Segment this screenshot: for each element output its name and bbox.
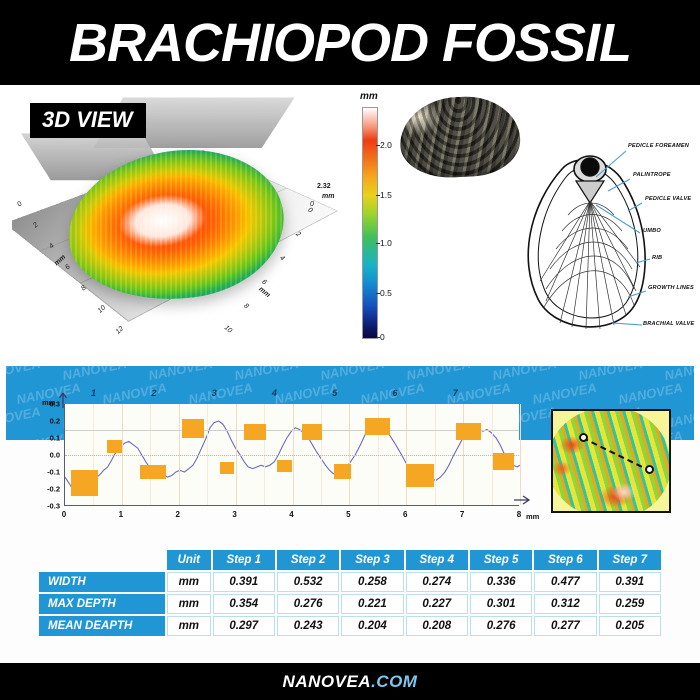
table-col-step-4: Step 4 [406,550,468,570]
measurements-table-element: UnitStep 1Step 2Step 3Step 4Step 5Step 6… [37,548,663,638]
chart-gridline [520,404,521,505]
step-marker-4: 4 [272,388,277,398]
step-region-box-10 [365,418,390,435]
step-region-box-12 [456,423,481,440]
step-region-box-4 [182,419,205,438]
table-cell-unit: mm [167,616,211,636]
axis-tick-left-12: 12 [115,325,125,335]
x-axis-arrow-icon [514,494,530,506]
step-region-box-5 [220,462,235,474]
profile-chart-section: mm 1234567 0.30.20.10.0-0.1-0.2-0.3 0123… [6,366,694,535]
table-cell-step-4: 0.274 [406,572,468,592]
y-tick--0.1: -0.1 [32,468,60,477]
table-col-step-5: Step 5 [470,550,532,570]
diagram-label-rib: RIB [652,255,662,261]
x-tick-8: 8 [517,510,521,519]
page-title: BRACHIOPOD FOSSIL [69,16,631,70]
table-cell-unit: mm [167,594,211,614]
axis-tick-left-0: 0 [16,201,24,209]
table-row-label: MAX DEPTH [39,594,165,614]
z-axis-max: 2.32 [317,183,331,190]
axis-tick-right-10: 10 [223,324,233,334]
table-body: WIDTHmm0.3910.5320.2580.2740.3360.4770.3… [39,572,661,636]
anatomy-diagram-svg [500,133,696,345]
colorbar-tick-1: 1.0 [380,238,392,248]
table-row-label: WIDTH [39,572,165,592]
table-cell-step-6: 0.312 [534,594,596,614]
footer-bar: NANOVEA .COM [0,663,700,700]
table-cell-step-5: 0.276 [470,616,532,636]
table-cell-step-6: 0.277 [534,616,596,636]
table-row-label: MEAN DEAPTH [39,616,165,636]
x-tick-6: 6 [403,510,407,519]
diagram-label-pedicle-foreamen: PEDICLE FOREAMEN [628,143,689,149]
surface-minimap [551,409,671,513]
colorbar-tick-0_5: 0.5 [380,288,392,298]
x-tick-0: 0 [62,510,66,519]
step-marker-2: 2 [151,388,156,398]
table-cell-step-3: 0.258 [341,572,403,592]
axis-tick-right-8: 8 [242,303,249,311]
step-region-box-9 [334,464,351,479]
x-tick-4: 4 [289,510,293,519]
three-d-view: 3D VIEW 0 2 4 6 8 10 12 mm 0 2 4 6 8 10 [12,89,342,351]
table-row: MEAN DEAPTHmm0.2970.2430.2040.2080.2760.… [39,616,661,636]
step-region-box-13 [493,453,515,470]
table-cell-step-7: 0.391 [599,572,661,592]
table-col-step-2: Step 2 [277,550,339,570]
y-tick-0.1: 0.1 [32,434,60,443]
header-bar: BRACHIOPOD FOSSIL [0,0,700,85]
step-region-box-6 [244,424,267,439]
axis-tick-left-10: 10 [97,304,107,314]
table-cell-step-3: 0.204 [341,616,403,636]
table-cell-step-5: 0.336 [470,572,532,592]
diagram-label-palintrope: PALINTROPE [633,172,671,178]
table-header-row: UnitStep 1Step 2Step 3Step 4Step 5Step 6… [39,550,661,570]
table-cell-step-4: 0.208 [406,616,468,636]
x-tick-7: 7 [460,510,464,519]
step-region-box-2 [107,440,122,454]
table-cell-step-3: 0.221 [341,594,403,614]
step-marker-5: 5 [332,388,337,398]
y-tick-0.2: 0.2 [32,417,60,426]
chart-zero-line [65,455,519,456]
y-tick-0.3: 0.3 [32,400,60,409]
z-axis-min: 0 [310,201,314,208]
minimap-end-marker[interactable] [645,465,654,474]
table-cell-step-4: 0.227 [406,594,468,614]
table-col-step-3: Step 3 [341,550,403,570]
table-row: WIDTHmm0.3910.5320.2580.2740.3360.4770.3… [39,572,661,592]
table-col-step-6: Step 6 [534,550,596,570]
step-region-box-11 [406,464,433,488]
table-cell-step-7: 0.259 [599,594,661,614]
step-region-box-8 [302,424,322,439]
y-tick--0.3: -0.3 [32,502,60,511]
diagram-label-growth-lines: GROWTH LINES [648,285,694,291]
footer-brand: NANOVEA [283,672,372,692]
colorbar-tick-0: 0 [380,332,385,342]
table-cell-step-1: 0.297 [213,616,275,636]
x-tick-2: 2 [176,510,180,519]
x-tick-1: 1 [119,510,123,519]
colorbar-title: mm [360,91,378,102]
table-cell-step-2: 0.532 [277,572,339,592]
table-row: MAX DEPTHmm0.3540.2760.2210.2270.3010.31… [39,594,661,614]
step-region-box-1 [71,470,98,496]
diagram-label-umbo: UMBO [643,228,661,234]
table-cell-step-1: 0.391 [213,572,275,592]
step-region-box-3 [140,465,167,479]
chart-mean-line [65,430,519,431]
step-marker-7: 7 [453,388,458,398]
profile-plot-area [64,404,519,506]
z-axis-unit: mm [322,193,334,200]
table-cell-step-6: 0.477 [534,572,596,592]
table-corner-cell [39,550,165,570]
anatomy-diagram: PEDICLE FOREAMEN PALINTROPE PEDICLE VALV… [500,133,696,345]
footer-domain: .COM [371,672,417,692]
x-tick-3: 3 [232,510,236,519]
table-cell-step-2: 0.243 [277,616,339,636]
colorbar-tick-1_5: 1.5 [380,190,392,200]
table-col-unit: Unit [167,550,211,570]
table-cell-step-2: 0.276 [277,594,339,614]
axis-tick-right-4: 4 [278,255,285,263]
y-tick--0.2: -0.2 [32,485,60,494]
axis-unit-right: mm [257,286,271,299]
colorbar: mm 2.0 1.5 1.0 0.5 0 [352,91,408,349]
chart-x-unit: mm [526,512,539,521]
colorbar-tick-2: 2.0 [380,140,392,150]
minimap-start-marker[interactable] [579,433,588,442]
three-d-view-badge: 3D VIEW [30,103,146,138]
table-cell-step-1: 0.354 [213,594,275,614]
colorbar-gradient [362,107,378,339]
step-marker-3: 3 [212,388,217,398]
table-cell-step-5: 0.301 [470,594,532,614]
table-cell-step-7: 0.205 [599,616,661,636]
step-marker-1: 1 [91,388,96,398]
x-tick-5: 5 [346,510,350,519]
table-col-step-1: Step 1 [213,550,275,570]
y-tick-0.0: 0.0 [32,451,60,460]
infographic-page: BRACHIOPOD FOSSIL 3D VIEW 0 2 4 6 8 10 1… [0,0,700,700]
table-cell-unit: mm [167,572,211,592]
table-col-step-7: Step 7 [599,550,661,570]
step-marker-6: 6 [392,388,397,398]
measurements-table: UnitStep 1Step 2Step 3Step 4Step 5Step 6… [37,548,663,638]
diagram-label-pedicle-valve: PEDICLE VALVE [645,196,691,202]
upper-panel: 3D VIEW 0 2 4 6 8 10 12 mm 0 2 4 6 8 10 [0,85,700,357]
diagram-label-brachial-valve: BRACHIAL VALVE [643,321,694,327]
step-region-box-7 [277,460,293,472]
minimap-color-surface [551,409,671,513]
